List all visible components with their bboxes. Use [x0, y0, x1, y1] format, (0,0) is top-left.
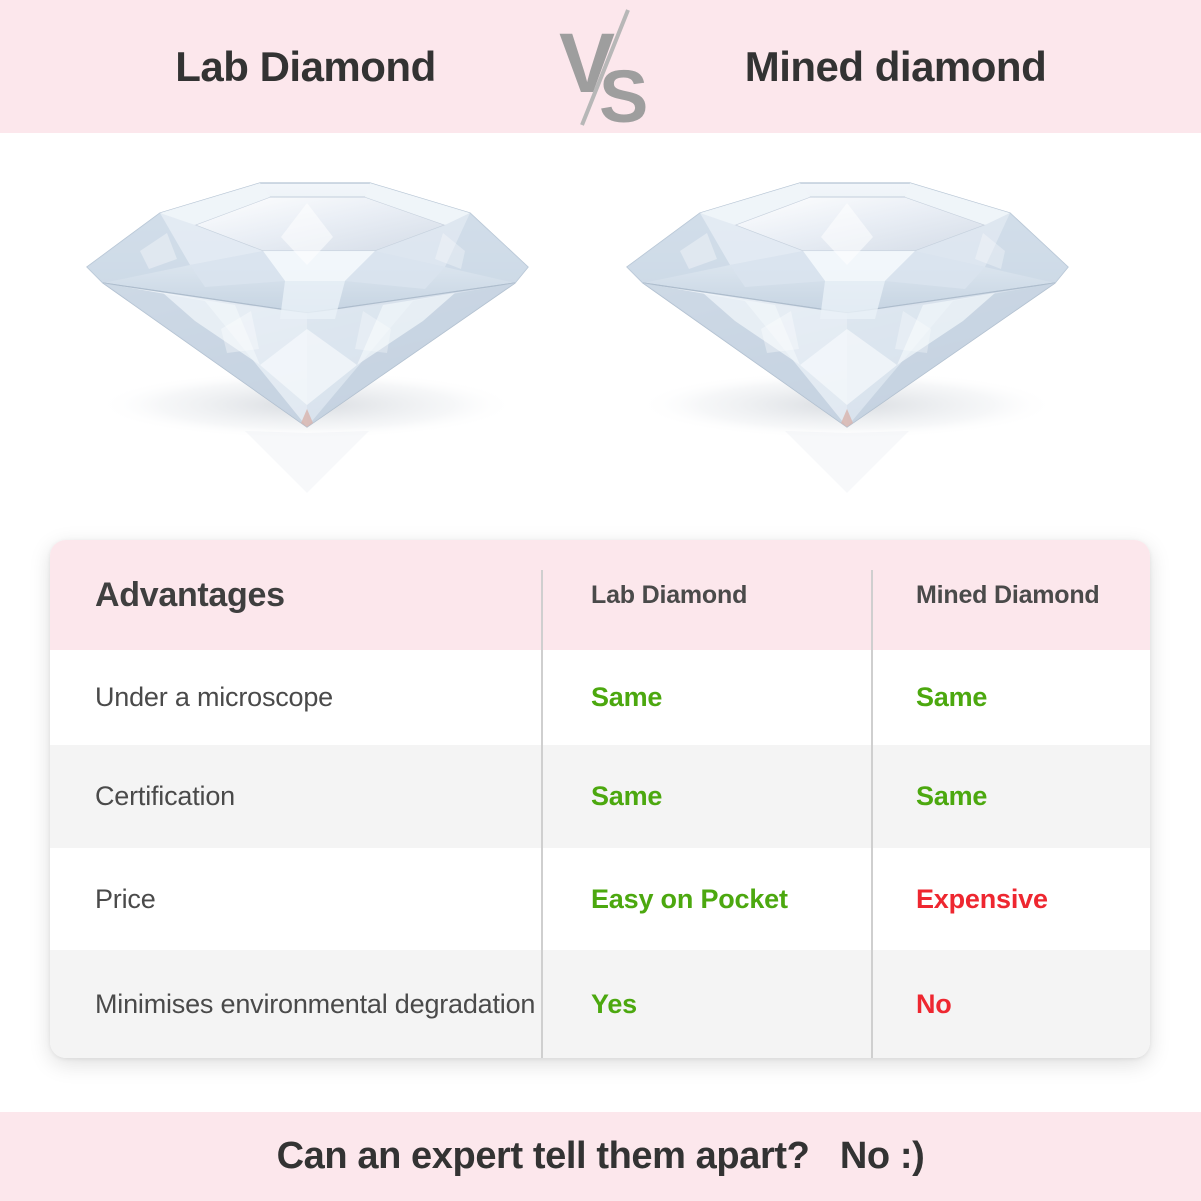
- row-lab-cell: Yes: [541, 989, 871, 1020]
- column-header-advantages-label: Advantages: [95, 576, 285, 614]
- top-banner: Lab Diamond V S Mined diamond: [0, 0, 1201, 133]
- column-divider-2: [871, 570, 873, 1058]
- row-lab-cell: Easy on Pocket: [541, 884, 871, 915]
- table-row: Under a microscope Same Same: [50, 650, 1150, 745]
- row-lab-cell: Same: [541, 682, 871, 713]
- column-header-mined-diamond-label: Mined Diamond: [916, 581, 1100, 609]
- row-advantage-label: Minimises environmental degradation: [95, 989, 535, 1019]
- row-lab-value: Easy on Pocket: [591, 884, 788, 914]
- row-mined-value: Expensive: [916, 884, 1048, 914]
- row-lab-cell: Same: [541, 781, 871, 812]
- table-row: Minimises environmental degradation Yes …: [50, 950, 1150, 1058]
- row-mined-cell: No: [871, 989, 1150, 1020]
- row-lab-value: Yes: [591, 989, 637, 1019]
- diamond-image-area: [0, 133, 1201, 540]
- vs-icon: V S: [541, 0, 661, 133]
- footer-question: Can an expert tell them apart? No :): [277, 1135, 925, 1178]
- table-header-row: Advantages Lab Diamond Mined Diamond: [50, 540, 1150, 650]
- row-mined-value: No: [916, 989, 952, 1019]
- page-title-mined-diamond: Mined diamond: [661, 43, 1131, 91]
- lab-diamond-image: [45, 133, 585, 540]
- comparison-table: Advantages Lab Diamond Mined Diamond Und…: [50, 540, 1150, 1058]
- column-header-advantages: Advantages: [50, 576, 541, 615]
- row-advantage-cell: Certification: [50, 777, 541, 815]
- row-mined-cell: Same: [871, 781, 1150, 812]
- row-advantage-cell: Under a microscope: [50, 678, 541, 716]
- row-mined-cell: Same: [871, 682, 1150, 713]
- row-lab-value: Same: [591, 781, 662, 811]
- row-advantage-cell: Price: [50, 880, 541, 918]
- row-lab-value: Same: [591, 682, 662, 712]
- row-mined-value: Same: [916, 682, 987, 712]
- row-advantage-label: Price: [95, 884, 156, 914]
- row-mined-cell: Expensive: [871, 884, 1150, 915]
- table-row: Price Easy on Pocket Expensive: [50, 848, 1150, 950]
- row-advantage-label: Certification: [95, 781, 235, 811]
- column-header-lab-diamond-label: Lab Diamond: [591, 581, 747, 609]
- row-advantage-label: Under a microscope: [95, 682, 333, 712]
- row-advantage-cell: Minimises environmental degradation: [50, 985, 541, 1023]
- table-row: Certification Same Same: [50, 745, 1150, 848]
- page-title-lab-diamond: Lab Diamond: [71, 43, 541, 91]
- column-header-mined-diamond: Mined Diamond: [871, 581, 1150, 610]
- row-mined-value: Same: [916, 781, 987, 811]
- bottom-banner: Can an expert tell them apart? No :): [0, 1112, 1201, 1201]
- column-divider-1: [541, 570, 543, 1058]
- mined-diamond-image: [585, 133, 1125, 540]
- column-header-lab-diamond: Lab Diamond: [541, 581, 871, 610]
